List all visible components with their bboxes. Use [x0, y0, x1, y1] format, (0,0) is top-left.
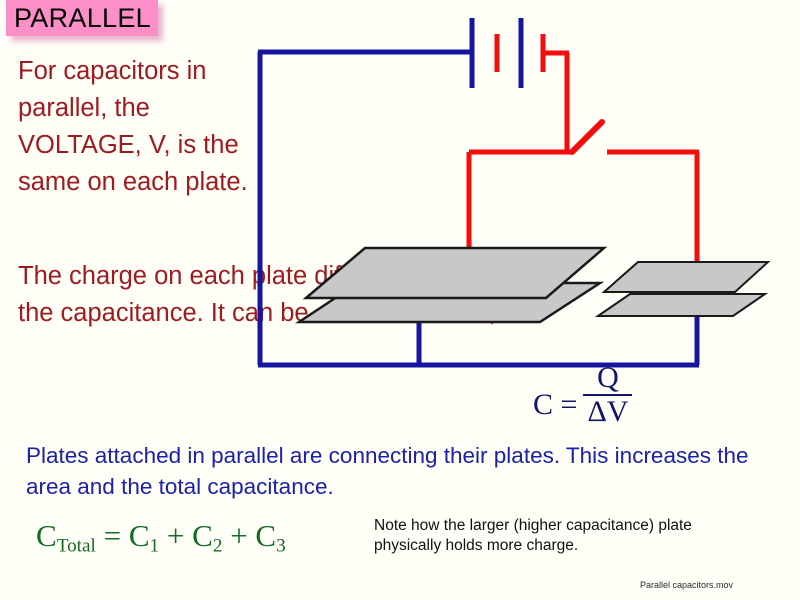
small-capacitor-bottom-plate	[598, 294, 765, 316]
note-larger-plate: Note how the larger (higher capacitance)…	[374, 516, 704, 556]
formula-total-equals: =	[104, 518, 121, 553]
small-capacitor	[598, 262, 768, 316]
switch-open[interactable]	[572, 122, 602, 152]
formula-total-term1-sub: 1	[150, 535, 160, 556]
slide-canvas: PARALLEL For capacitors in parallel, the…	[0, 0, 800, 600]
formula-capacitance-numerator: Q	[591, 363, 625, 394]
formula-capacitance-fraction: Q ΔV	[583, 363, 632, 427]
battery-symbol	[472, 18, 543, 88]
formula-total-capacitance: CTotal = C1 + C2 + C3	[36, 520, 286, 556]
formula-total-term3-sub: 3	[276, 535, 286, 556]
formula-total-term1: C	[129, 518, 150, 553]
formula-total-term3: C	[255, 518, 276, 553]
formula-total-lhs-sub: Total	[57, 535, 96, 556]
formula-capacitance: C = Q ΔV	[533, 363, 632, 427]
formula-capacitance-lhs: C =	[533, 390, 583, 420]
formula-total-lhs-symbol: C	[36, 518, 57, 553]
red-wire-path	[469, 53, 699, 263]
footer-filename: Parallel capacitors.mov	[640, 580, 733, 590]
paragraph-charge: The charge on each plate differs accordi…	[18, 258, 538, 332]
paragraph-voltage: For capacitors in parallel, the VOLTAGE,…	[18, 53, 263, 201]
formula-total-term2-sub: 2	[213, 535, 223, 556]
formula-total-plus2: +	[230, 518, 247, 553]
formula-total-term2: C	[192, 518, 213, 553]
page-title: PARALLEL	[14, 1, 151, 35]
formula-total-plus1: +	[167, 518, 184, 553]
small-capacitor-top-plate	[604, 262, 768, 292]
paragraph-parallel-note: Plates attached in parallel are connecti…	[26, 440, 766, 502]
formula-capacitance-denominator: ΔV	[583, 396, 632, 427]
